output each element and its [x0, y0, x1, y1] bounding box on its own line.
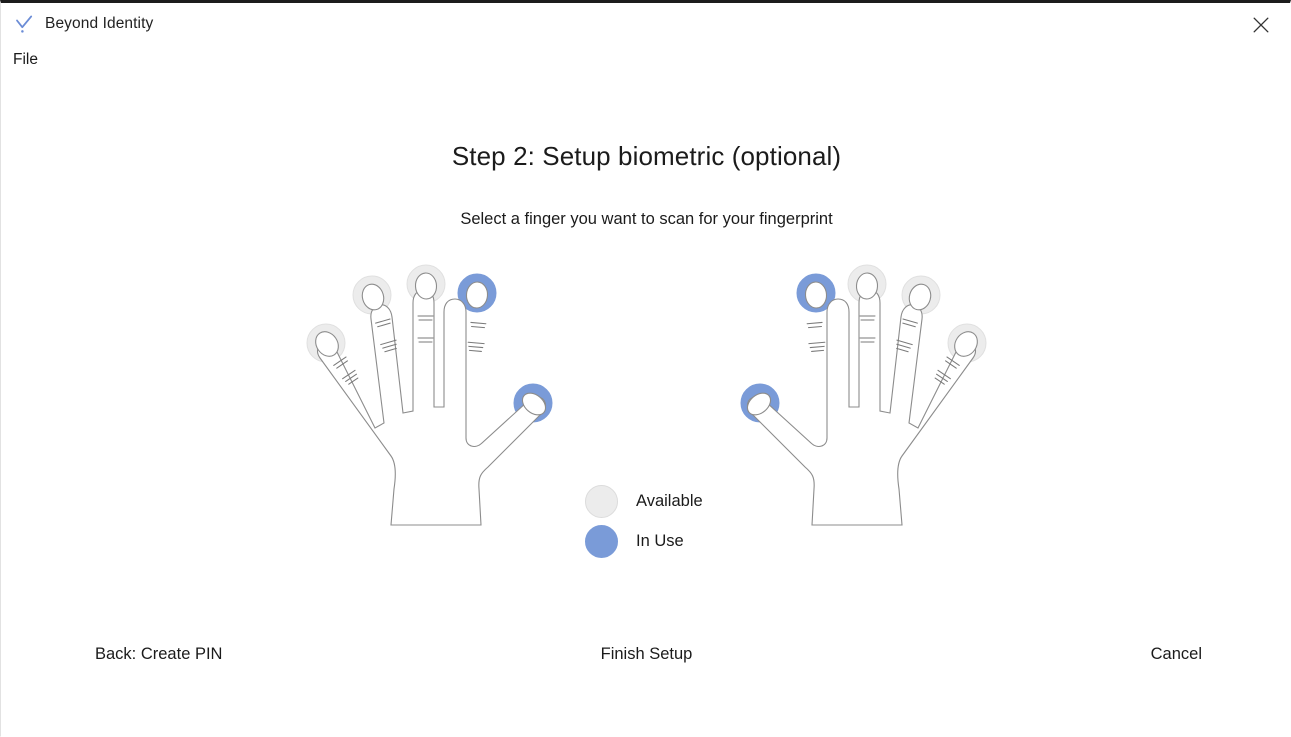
cancel-button[interactable]: Cancel	[1149, 641, 1204, 668]
checkmark-logo-icon	[13, 13, 35, 35]
legend-item-in-use: In Use	[585, 521, 805, 561]
legend: Available In Use	[585, 481, 805, 561]
legend-label-in-use: In Use	[636, 532, 684, 551]
app-window: Beyond Identity File Step 2: Setup biome…	[0, 0, 1291, 737]
menu-item-file[interactable]: File	[11, 51, 40, 69]
page-title: Step 2: Setup biometric (optional)	[1, 141, 1291, 172]
available-swatch-icon	[585, 485, 618, 518]
finish-setup-button[interactable]: Finish Setup	[1, 641, 1291, 668]
menubar: File	[1, 45, 1291, 79]
legend-label-available: Available	[636, 492, 703, 511]
footer-actions: Back: Create PIN Finish Setup Cancel	[1, 641, 1291, 683]
legend-item-available: Available	[585, 481, 805, 521]
app-title: Beyond Identity	[45, 15, 153, 33]
in-use-swatch-icon	[585, 525, 618, 558]
main-content: Step 2: Setup biometric (optional) Selec…	[1, 79, 1291, 737]
left-index-creases	[467, 322, 485, 351]
left-hand-diagram	[296, 261, 571, 541]
close-icon[interactable]	[1240, 7, 1282, 43]
titlebar: Beyond Identity	[1, 3, 1291, 45]
right-index-creases	[807, 322, 825, 351]
page-subtitle: Select a finger you want to scan for you…	[1, 210, 1291, 229]
